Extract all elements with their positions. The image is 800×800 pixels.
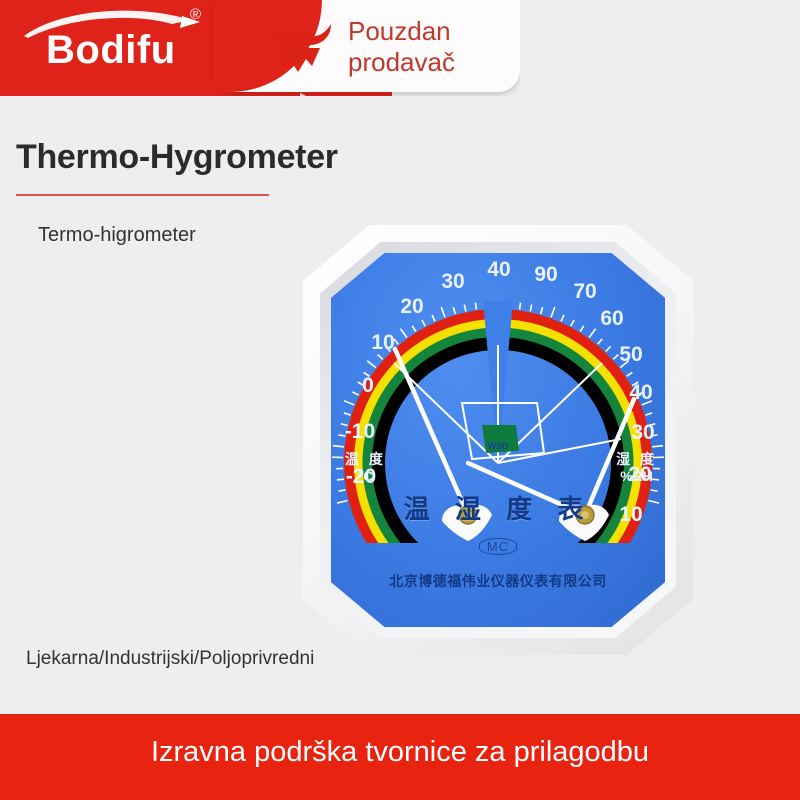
temp-label-0: 0 xyxy=(362,374,374,397)
page-subtitle: Termo-higrometer xyxy=(38,224,196,247)
seller-line-1: Pouzdan xyxy=(348,16,455,47)
temperature-label-cn: 温 度 xyxy=(345,451,386,468)
dial-product-name: 温 湿 度 表 xyxy=(331,489,665,526)
temperature-label-unit: °C xyxy=(345,468,386,485)
humidity-label-cn: 湿 度 xyxy=(616,451,657,468)
temp-label-30: 30 xyxy=(441,270,464,293)
footer-banner: Izravna podrška tvornice za prilagodbu xyxy=(0,711,800,800)
bull-head-icon xyxy=(262,20,334,76)
hum-label-70: 70 xyxy=(573,280,596,303)
temperature-unit-label: 温 度 °C xyxy=(345,451,386,485)
use-cases-caption: Ljekarna/Industrijski/Poljoprivredni xyxy=(26,648,314,670)
device-dial-face: WSD -20 -10 0 10 20 xyxy=(331,253,665,627)
humidity-label-unit: %RH xyxy=(616,468,657,485)
registered-mark: ® xyxy=(190,6,201,23)
brand-banner: ® Bodifu Pouzdan prodavač xyxy=(0,0,520,96)
humidity-unit-label: 湿 度 %RH xyxy=(616,451,657,485)
seller-badge-text: Pouzdan prodavač xyxy=(348,16,455,78)
brand-name: Bodifu xyxy=(46,28,176,73)
title-underline xyxy=(16,194,269,196)
hum-label-40: 40 xyxy=(629,381,652,404)
hum-label-90: 90 xyxy=(534,263,557,286)
thermo-hygrometer-device: WSD -20 -10 0 10 20 xyxy=(303,225,693,655)
center-mark-label: WSD xyxy=(488,441,509,451)
temp-label-10: 10 xyxy=(371,331,394,354)
seller-line-2: prodavač xyxy=(348,47,455,78)
page-title: Thermo-Hygrometer xyxy=(16,138,338,177)
certification-mark: MC xyxy=(331,538,665,556)
footer-text: Izravna podrška tvornice za prilagodbu xyxy=(0,736,800,769)
hum-label-60: 60 xyxy=(600,307,623,330)
temp-label--10: -10 xyxy=(345,420,375,443)
hum-label-30: 30 xyxy=(631,421,654,444)
temp-label-40: 40 xyxy=(487,258,510,281)
hum-label-50: 50 xyxy=(619,343,642,366)
temp-label-20: 20 xyxy=(400,295,423,318)
certification-mark-text: MC xyxy=(479,538,517,555)
manufacturer-name: 北京博德福伟业仪器仪表有限公司 xyxy=(331,571,665,591)
